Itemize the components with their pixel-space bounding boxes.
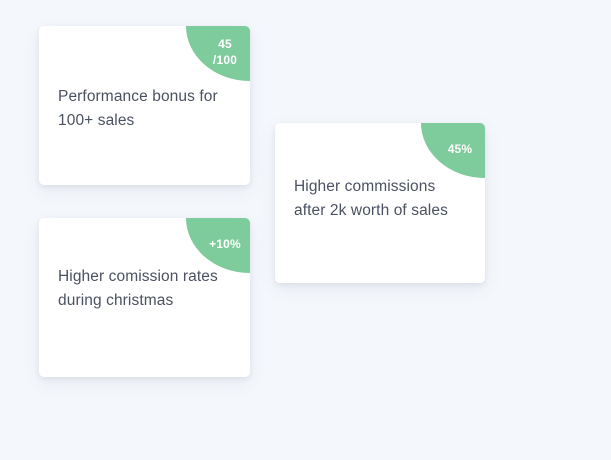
badge-value-secondary: /100 (213, 52, 237, 68)
progress-badge: 45% (421, 123, 485, 178)
badge-value-primary: 45% (448, 141, 473, 157)
reward-card[interactable]: 45% Higher commissions after 2k worth of… (275, 123, 485, 283)
cards-board: 45 /100 Performance bonus for 100+ sales… (0, 0, 611, 460)
progress-badge: 45 /100 (186, 26, 250, 81)
card-body-text: Higher commissions after 2k worth of sal… (294, 175, 469, 223)
card-body-text: Performance bonus for 100+ sales (58, 85, 234, 133)
badge-value-primary: +10% (209, 236, 241, 252)
badge-value-primary: 45 (218, 36, 232, 52)
card-body-text: Higher comission rates during christmas (58, 265, 234, 313)
reward-card[interactable]: +10% Higher comission rates during chris… (39, 218, 250, 377)
reward-card[interactable]: 45 /100 Performance bonus for 100+ sales (39, 26, 250, 185)
